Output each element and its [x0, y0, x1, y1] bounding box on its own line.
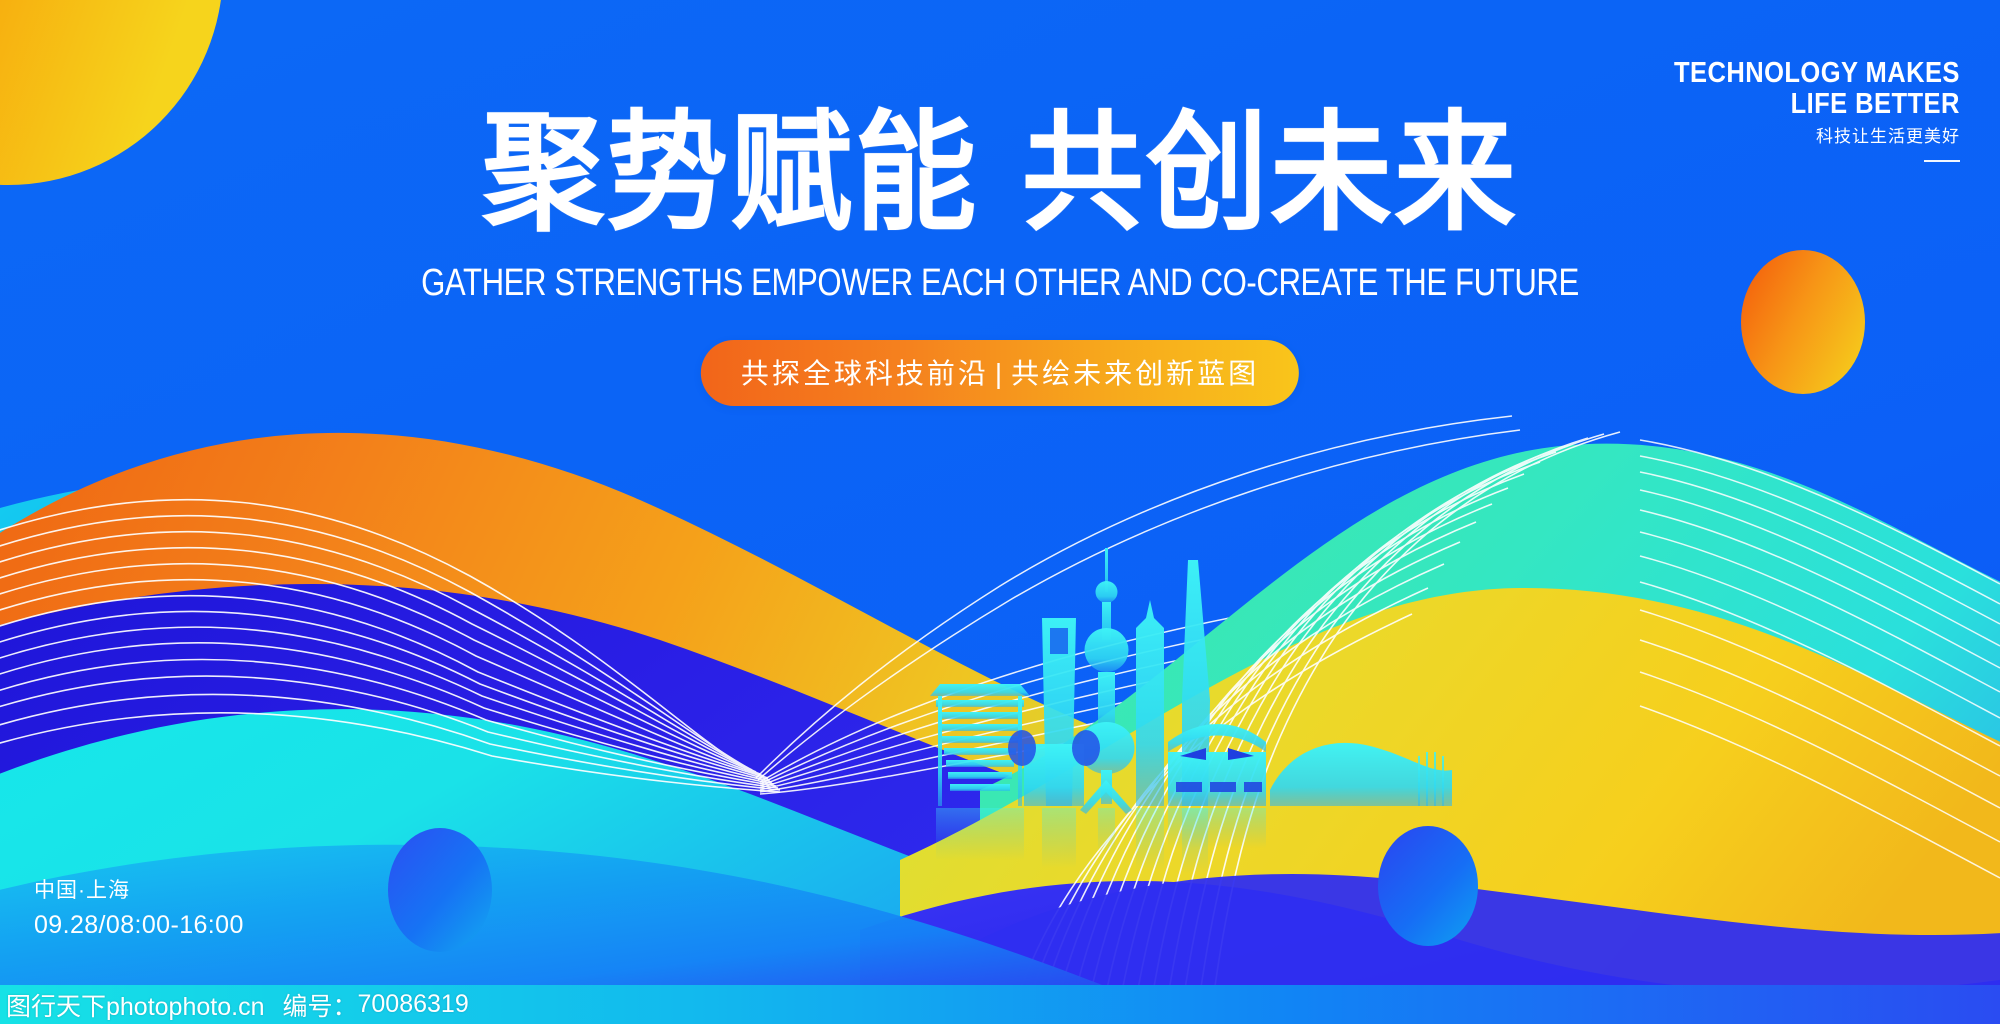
- page-title: 聚势赋能共创未来: [60, 108, 1940, 238]
- event-info-block: 中国·上海 09.28/08:00-16:00: [34, 877, 244, 942]
- headline-part-right: 共创未来: [1022, 100, 1518, 246]
- watermark-id-value: 70086319: [358, 990, 469, 1019]
- poster-canvas: TECHNOLOGY MAKES LIFE BETTER 科技让生活更美好 聚势…: [0, 0, 2000, 1024]
- tagline-en-line1: TECHNOLOGY MAKES: [1674, 58, 1960, 89]
- ellipse-bottom-left: [388, 828, 492, 952]
- ellipse-bottom-right: [1378, 826, 1478, 946]
- event-city: 中国·上海: [34, 877, 244, 905]
- pill-divider: |: [989, 358, 1011, 390]
- watermark-bar: 图行天下photophoto.cn 编号： 70086319: [0, 985, 2000, 1024]
- headline-part-left: 聚势赋能: [482, 100, 978, 246]
- pill-text-left: 共探全球科技前沿: [741, 358, 989, 389]
- watermark-id-label: 编号：: [282, 987, 357, 1023]
- subtitle-english: GATHER STRENGTHS EMPOWER EACH OTHER AND …: [180, 262, 1820, 305]
- watermark-site: 图行天下photophoto.cn: [6, 987, 264, 1023]
- event-datetime: 09.28/08:00-16:00: [34, 909, 244, 943]
- theme-pill-badge: 共探全球科技前沿|共绘未来创新蓝图: [701, 340, 1299, 406]
- pill-text-right: 共绘未来创新蓝图: [1011, 358, 1259, 389]
